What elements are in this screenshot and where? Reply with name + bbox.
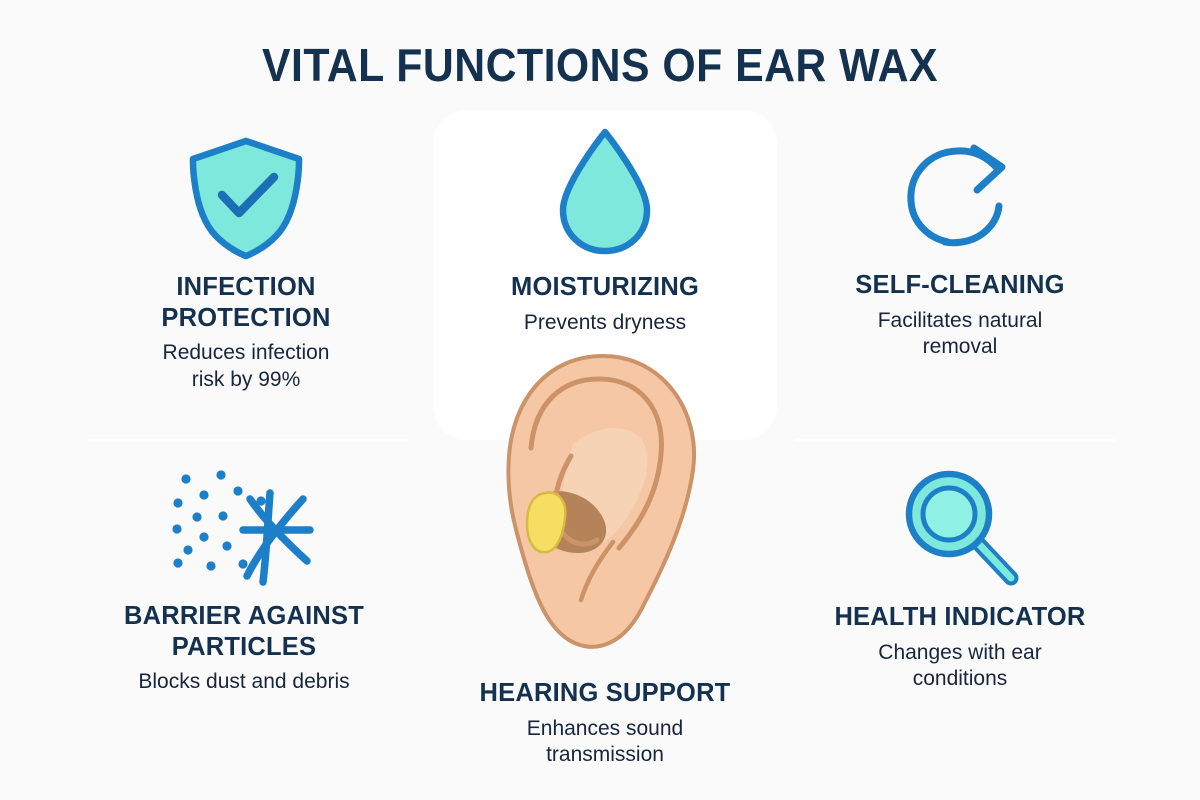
card-desc-line2: transmission xyxy=(430,742,780,768)
card-hearing-support[interactable]: HEARING SUPPORT Enhances sound transmiss… xyxy=(430,668,780,769)
card-title: INFECTION PROTECTION xyxy=(70,272,422,333)
card-description: Reduces infection risk by 99% xyxy=(70,340,422,393)
particles-starburst-icon xyxy=(164,466,324,591)
card-desc-line1: Blocks dust and debris xyxy=(68,669,420,695)
particles-starburst-icon-wrap xyxy=(68,466,420,591)
card-desc-line1: Changes with ear xyxy=(790,640,1130,666)
card-desc-line1: Prevents dryness xyxy=(437,310,773,336)
shield-check-icon-wrap xyxy=(70,132,422,262)
card-description: Facilitates natural removal xyxy=(790,308,1130,361)
card-desc-line1: Reduces infection xyxy=(70,340,422,366)
ear-illustration-icon-wrap xyxy=(485,352,725,652)
card-desc-line2: removal xyxy=(790,334,1130,360)
water-drop-icon-wrap xyxy=(437,122,773,262)
card-desc-line1: Facilitates natural xyxy=(790,308,1130,334)
page-title: VITAL FUNCTIONS OF EAR WAX xyxy=(42,38,1158,92)
card-title: BARRIER AGAINST PARTICLES xyxy=(68,601,420,662)
card-title-line1: INFECTION xyxy=(70,272,422,303)
card-title-line2: PROTECTION xyxy=(70,303,422,334)
card-barrier-against-particles[interactable]: BARRIER AGAINST PARTICLES Blocks dust an… xyxy=(68,466,420,696)
magnifying-glass-icon xyxy=(895,462,1025,592)
card-infection-protection[interactable]: INFECTION PROTECTION Reduces infection r… xyxy=(70,132,422,393)
refresh-cycle-arrow-icon xyxy=(898,140,1022,260)
card-title-line1: MOISTURIZING xyxy=(437,272,773,303)
card-desc-line2: conditions xyxy=(790,666,1130,692)
card-description: Blocks dust and debris xyxy=(68,669,420,695)
card-self-cleaning[interactable]: SELF-CLEANING Facilitates natural remova… xyxy=(790,140,1130,361)
card-description: Prevents dryness xyxy=(437,310,773,336)
card-description: Changes with ear conditions xyxy=(790,640,1130,693)
card-title: HEALTH INDICATOR xyxy=(790,602,1130,633)
row-divider-left xyxy=(88,439,408,442)
card-title: MOISTURIZING xyxy=(437,272,773,303)
magnifying-glass-icon-wrap xyxy=(790,462,1130,592)
card-title-line1: HEARING SUPPORT xyxy=(430,678,780,709)
card-moisturizing[interactable]: MOISTURIZING Prevents dryness xyxy=(437,122,773,336)
refresh-cycle-arrow-icon-wrap xyxy=(790,140,1130,260)
card-title-line1: HEALTH INDICATOR xyxy=(790,602,1130,633)
card-title-line1: SELF-CLEANING xyxy=(790,270,1130,301)
shield-check-icon xyxy=(181,132,311,262)
card-description: Enhances sound transmission xyxy=(430,716,780,769)
card-title: SELF-CLEANING xyxy=(790,270,1130,301)
card-desc-line1: Enhances sound xyxy=(430,716,780,742)
water-drop-icon xyxy=(550,122,660,262)
card-title: HEARING SUPPORT xyxy=(430,678,780,709)
card-desc-line2: risk by 99% xyxy=(70,367,422,393)
ear-illustration-icon xyxy=(485,352,725,652)
row-divider-right xyxy=(795,439,1115,442)
card-title-line2: PARTICLES xyxy=(68,632,420,663)
card-health-indicator[interactable]: HEALTH INDICATOR Changes with ear condit… xyxy=(790,462,1130,693)
card-title-line1: BARRIER AGAINST xyxy=(68,601,420,632)
